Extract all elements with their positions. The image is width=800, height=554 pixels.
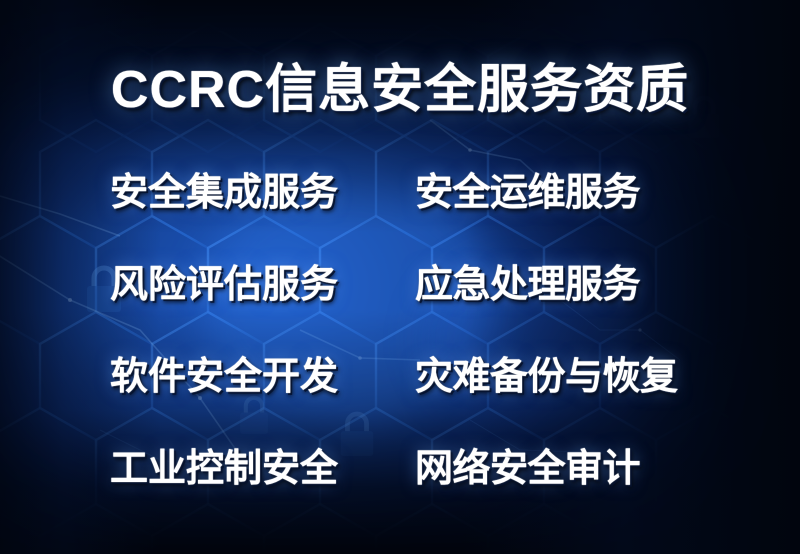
service-item-security-integration: 安全集成服务 — [110, 172, 395, 214]
page-title: CCRC信息安全服务资质 — [0, 62, 800, 118]
service-item-security-operations: 安全运维服务 — [415, 172, 700, 214]
service-item-network-security-audit: 网络安全审计 — [415, 448, 700, 490]
service-item-secure-software-dev: 软件安全开发 — [110, 356, 395, 398]
service-item-risk-assessment: 风险评估服务 — [110, 264, 395, 306]
service-item-industrial-control: 工业控制安全 — [110, 448, 395, 490]
service-item-emergency-response: 应急处理服务 — [415, 264, 700, 306]
service-item-disaster-recovery: 灾难备份与恢复 — [415, 356, 700, 398]
ccrc-qualification-poster: CCRC信息安全服务资质 安全集成服务 安全运维服务 风险评估服务 应急处理服务… — [0, 0, 800, 554]
service-list: 安全集成服务 安全运维服务 风险评估服务 应急处理服务 软件安全开发 灾难备份与… — [110, 172, 700, 490]
